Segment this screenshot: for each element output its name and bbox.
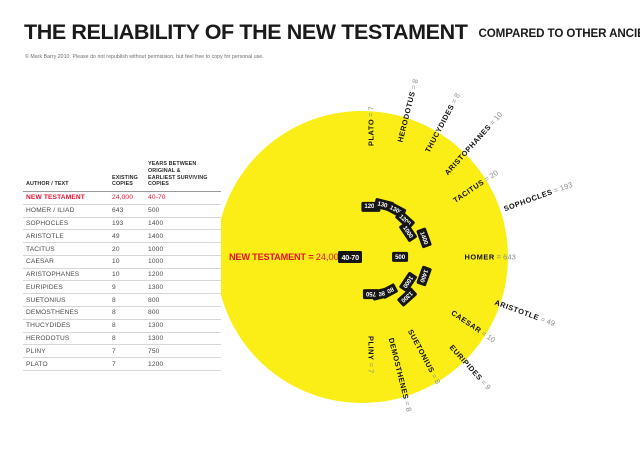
- cell-copies: 20: [112, 243, 148, 256]
- cell-years: 1000: [148, 243, 221, 256]
- author-label-name: HOMER: [464, 253, 494, 262]
- cell-copies: 7: [112, 345, 148, 358]
- cell-author: NEW TESTAMENT: [23, 192, 112, 205]
- cell-copies: 10: [112, 268, 148, 281]
- cell-author: HERODOTUS: [23, 332, 112, 345]
- cell-years: 1200: [148, 268, 221, 281]
- cell-copies: 8: [112, 319, 148, 332]
- author-label-plato: PLATO = 7: [367, 106, 376, 146]
- cell-years: 1300: [148, 281, 221, 294]
- table-row: HERODOTUS81300: [23, 332, 221, 345]
- cell-years: 1400: [148, 230, 221, 243]
- author-label-count: 7: [367, 106, 376, 110]
- cell-author: DEMOSTHENES: [23, 307, 112, 320]
- cell-author: TACITUS: [23, 243, 112, 256]
- cell-author: EURIPIDES: [23, 281, 112, 294]
- table-row: NEW TESTAMENT24,00040-70: [23, 192, 221, 205]
- author-label-homer: HOMER = 643: [464, 253, 516, 262]
- cell-copies: 8: [112, 294, 148, 307]
- cell-years: 1300: [148, 332, 221, 345]
- table-header-row: AUTHOR / TEXT EXISTING COPIES YEARS BETW…: [23, 158, 221, 192]
- table-row: HOMER / ILIAD643500: [23, 204, 221, 217]
- cell-years: 800: [148, 307, 221, 320]
- author-label-equals: =: [367, 361, 376, 369]
- cell-years: 1200: [148, 358, 221, 371]
- cell-copies: 24,000: [112, 192, 148, 205]
- cell-copies: 193: [112, 217, 148, 230]
- table-row: PLINY7750: [23, 345, 221, 358]
- col-header-years-line2: EARLIEST SURVIVING COPIES: [148, 175, 208, 188]
- center-label-name: NEW TESTAMENT: [229, 252, 306, 262]
- table-row: PLATO71200: [23, 358, 221, 371]
- cell-years: 750: [148, 345, 221, 358]
- cell-author: SOPHOCLES: [23, 217, 112, 230]
- cell-author: THUCYDIDES: [23, 319, 112, 332]
- cell-years: 40-70: [148, 192, 221, 205]
- author-label-equals: =: [367, 110, 376, 118]
- cell-author: CAESAR: [23, 255, 112, 268]
- cell-author: PLINY: [23, 345, 112, 358]
- table-row: ARISTOTLE491400: [23, 230, 221, 243]
- cell-copies: 9: [112, 281, 148, 294]
- cell-copies: 7: [112, 358, 148, 371]
- cell-author: ARISTOPHANES: [23, 268, 112, 281]
- col-header-years-line1: YEARS BETWEEN ORIGINAL &: [148, 161, 196, 174]
- author-label-equals: =: [495, 253, 503, 262]
- col-header-copies-line2: COPIES: [112, 181, 133, 187]
- author-label-count: 7: [367, 369, 376, 373]
- comparison-table: AUTHOR / TEXT EXISTING COPIES YEARS BETW…: [23, 158, 221, 371]
- table-row: SOPHOCLES1931400: [23, 217, 221, 230]
- col-header-copies-line1: EXISTING: [112, 175, 138, 181]
- author-label-name: PLATO: [367, 118, 376, 145]
- center-years-badge: 40-70: [338, 251, 362, 263]
- cell-author: PLATO: [23, 358, 112, 371]
- author-label-pliny: PLINY = 7: [367, 336, 376, 373]
- col-header-author: AUTHOR / TEXT: [23, 158, 112, 192]
- table-row: EURIPIDES91300: [23, 281, 221, 294]
- year-badge-pliny: 750: [363, 288, 379, 298]
- cell-author: HOMER / ILIAD: [23, 204, 112, 217]
- cell-author: ARISTOTLE: [23, 230, 112, 243]
- infographic-canvas: THE RELIABILITY OF THE NEW TESTAMENTCOMP…: [0, 0, 640, 452]
- cell-years: 1300: [148, 319, 221, 332]
- cell-years: 1000: [148, 255, 221, 268]
- table-body: NEW TESTAMENT24,00040-70HOMER / ILIAD643…: [23, 192, 221, 371]
- cell-copies: 10: [112, 255, 148, 268]
- center-label: NEW TESTAMENT = 24,000: [229, 252, 344, 262]
- table-row: THUCYDIDES81300: [23, 319, 221, 332]
- cell-years: 1400: [148, 217, 221, 230]
- center-label-equals: =: [308, 252, 313, 262]
- cell-copies: 8: [112, 307, 148, 320]
- cell-copies: 49: [112, 230, 148, 243]
- table-row: DEMOSTHENES8800: [23, 307, 221, 320]
- cell-years: 800: [148, 294, 221, 307]
- col-header-copies: EXISTING COPIES: [112, 158, 148, 192]
- table-row: CAESAR101000: [23, 255, 221, 268]
- table-row: ARISTOPHANES101200: [23, 268, 221, 281]
- col-header-years: YEARS BETWEEN ORIGINAL & EARLIEST SURVIV…: [148, 158, 221, 192]
- author-label-name: PLINY: [367, 336, 376, 361]
- cell-years: 500: [148, 204, 221, 217]
- year-badge-homer: 500: [392, 252, 408, 262]
- col-header-author-line1: AUTHOR / TEXT: [26, 181, 69, 187]
- table-row: TACITUS201000: [23, 243, 221, 256]
- cell-copies: 8: [112, 332, 148, 345]
- cell-author: SUETONIUS: [23, 294, 112, 307]
- cell-copies: 643: [112, 204, 148, 217]
- table-row: SUETONIUS8800: [23, 294, 221, 307]
- author-label-count: 643: [503, 253, 516, 262]
